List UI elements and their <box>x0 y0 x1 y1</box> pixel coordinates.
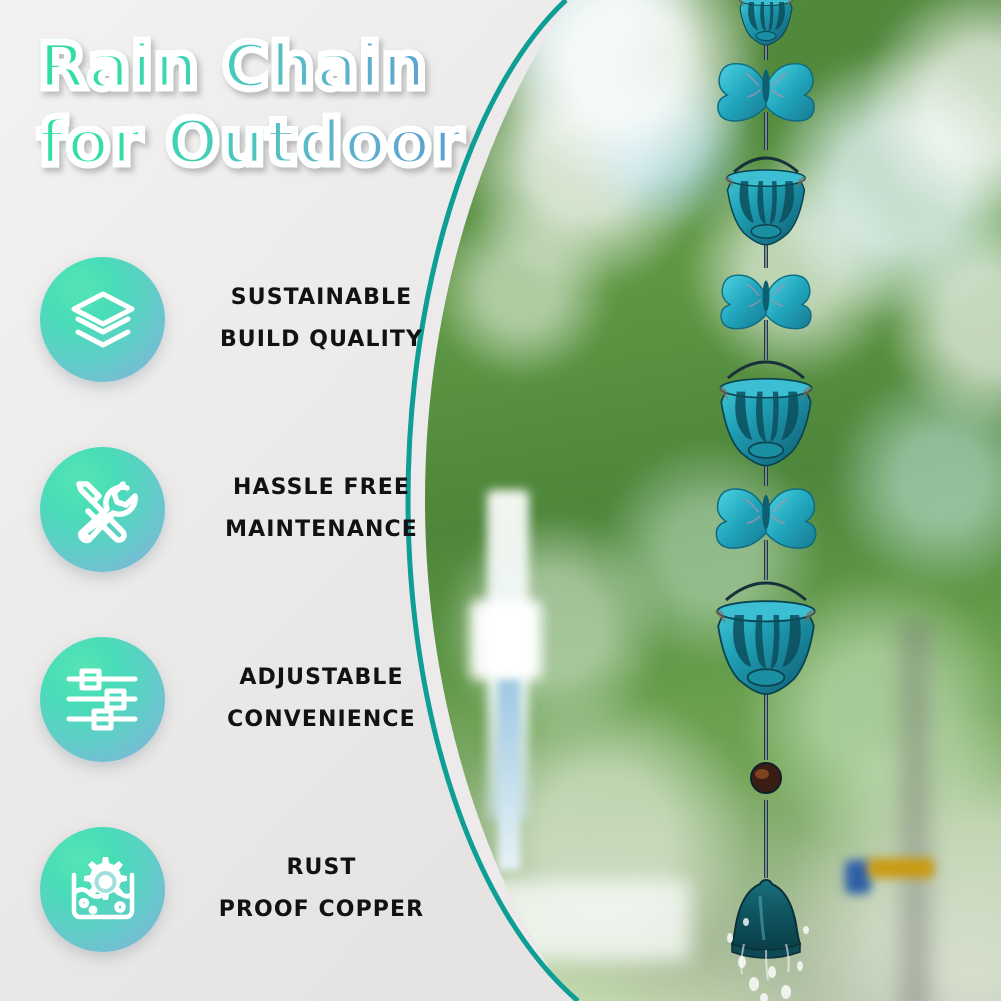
feature-item-rust-proof-copper: RUST PROOF COPPER <box>40 825 440 953</box>
feature-item-hassle-free-maintenance: HASSLE FREE MAINTENANCE <box>40 445 440 573</box>
sliders-icon <box>40 637 165 762</box>
flower-cup-2 <box>718 379 813 466</box>
feature-label-2-line2: MAINTENANCE <box>203 509 440 551</box>
bell <box>732 880 800 958</box>
feature-label-4-line1: RUST <box>203 847 440 889</box>
gear-in-liquid-icon <box>40 827 165 952</box>
title-line-1: Rain Chain <box>38 30 458 104</box>
title-line-2: for Outdoor <box>38 106 458 180</box>
feature-label-3-line1: ADJUSTABLE <box>203 657 440 699</box>
feature-label-2: HASSLE FREE MAINTENANCE <box>203 467 440 551</box>
feature-label-4: RUST PROOF COPPER <box>203 847 440 931</box>
feature-label-1-line2: BUILD QUALITY <box>203 319 440 361</box>
feature-label-2-line1: HASSLE FREE <box>203 467 440 509</box>
layers-icon <box>40 257 165 382</box>
feature-label-1: SUSTAINABLE BUILD QUALITY <box>203 277 440 361</box>
flower-cup-3 <box>714 601 815 694</box>
feature-label-3-line2: CONVENIENCE <box>203 699 440 741</box>
feature-item-adjustable-convenience: ADJUSTABLE CONVENIENCE <box>40 635 440 763</box>
product-marketing-banner: Rain Chain for Outdoor SUSTAINABLE BUILD… <box>0 0 1001 1001</box>
butterfly-ornament-3 <box>716 489 815 548</box>
feature-list: SUSTAINABLE BUILD QUALITY HASSLE FREE MA… <box>40 255 440 953</box>
feature-item-sustainable-build-quality: SUSTAINABLE BUILD QUALITY <box>40 255 440 383</box>
page-title: Rain Chain for Outdoor <box>38 30 458 180</box>
feature-label-3: ADJUSTABLE CONVENIENCE <box>203 657 440 741</box>
feature-label-1-line1: SUSTAINABLE <box>203 277 440 319</box>
flower-cup-top <box>738 0 793 45</box>
decorative-bead <box>751 763 781 793</box>
feature-label-4-line2: PROOF COPPER <box>203 889 440 931</box>
tools-icon <box>40 447 165 572</box>
flower-cup-1 <box>725 170 806 245</box>
